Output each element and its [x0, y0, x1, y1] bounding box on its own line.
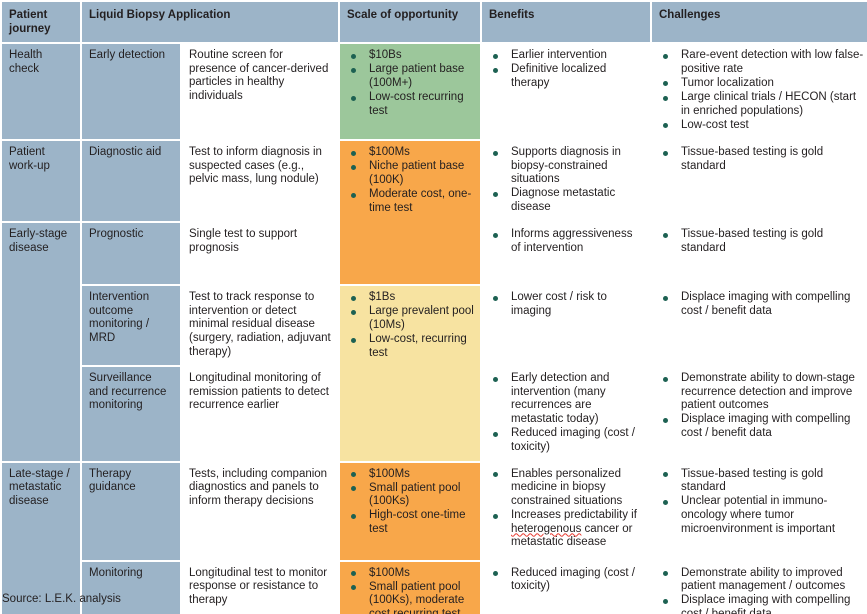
challenges-bullet-list: Demonstrate ability to improved patient … — [659, 567, 865, 614]
challenges-cell: Rare-event detection with low false-posi… — [652, 44, 867, 139]
list-item-misspelled: Increases predictability if heterogenous… — [489, 509, 644, 550]
benefits-bullet-list: Early detection and intervention (many r… — [489, 372, 644, 454]
list-item: Displace imaging with compelling cost / … — [659, 291, 865, 318]
benefits-bullet-list: Earlier intervention Definitive localize… — [489, 49, 644, 90]
challenges-cell: Tissue-based testing is gold standard — [652, 141, 867, 221]
journey-cell-health-check: Health check — [2, 44, 80, 139]
list-item: Earlier intervention — [489, 49, 644, 63]
list-item: $100Ms — [347, 146, 474, 160]
benefits-bullet-list: Informs aggressiveness of intervention — [489, 228, 644, 255]
source-note: Source: L.E.K. analysis — [2, 592, 121, 606]
header-scale-of-opportunity: Scale of opportunity — [340, 2, 480, 42]
scale-cell-mrd-surveillance: $1Bs Large prevalent pool (10Ms) Low-cos… — [340, 286, 480, 461]
list-item: Low-cost test — [659, 119, 865, 133]
list-item: Niche patient base (100K) — [347, 160, 474, 187]
list-item: Demonstrate ability to improved patient … — [659, 567, 865, 594]
challenges-bullet-list: Tissue-based testing is gold standard Un… — [659, 468, 865, 536]
header-challenges: Challenges — [652, 2, 867, 42]
challenges-bullet-list: Rare-event detection with low false-posi… — [659, 49, 865, 132]
list-item: Small patient pool (100Ks) — [347, 482, 474, 509]
application-cell-diagnostic-aid: Diagnostic aid — [82, 141, 180, 221]
table-row: Health check Early detection Routine scr… — [2, 44, 867, 139]
challenges-cell: Tissue-based testing is gold standard Un… — [652, 463, 867, 560]
scale-bullet-list: $1Bs Large prevalent pool (10Ms) Low-cos… — [347, 291, 474, 360]
header-benefits: Benefits — [482, 2, 650, 42]
table-row: Intervention outcome monitoring / MRD Te… — [2, 286, 867, 365]
list-item: Definitive localized therapy — [489, 63, 644, 90]
header-liquid-biopsy-application: Liquid Biopsy Application — [82, 2, 338, 42]
scale-cell-monitoring: $100Ms Small patient pool (100Ks), moder… — [340, 562, 480, 614]
application-cell-intervention-outcome-monitoring: Intervention outcome monitoring / MRD — [82, 286, 180, 365]
scale-bullet-list: $100Ms Niche patient base (100K) Moderat… — [347, 146, 474, 215]
list-item: Diagnose metastatic disease — [489, 187, 644, 214]
description-cell: Single test to support prognosis — [182, 223, 338, 284]
list-item: Informs aggressiveness of intervention — [489, 228, 644, 255]
header-patient-journey: Patient journey — [2, 2, 80, 42]
challenges-bullet-list: Displace imaging with compelling cost / … — [659, 291, 865, 318]
list-item: $100Ms — [347, 567, 474, 581]
scale-bullet-list: $10Bs Large patient base (100M+) Low-cos… — [347, 49, 474, 118]
list-item: High-cost one-time test — [347, 509, 474, 536]
application-cell-therapy-guidance: Therapy guidance — [82, 463, 180, 560]
scale-bullet-list: $100Ms Small patient pool (100Ks), moder… — [347, 567, 474, 614]
list-item: Large patient base (100M+) — [347, 63, 474, 90]
benefits-cell: Informs aggressiveness of intervention — [482, 223, 650, 284]
table-row: Late-stage / metastatic disease Therapy … — [2, 463, 867, 560]
description-cell: Test to track response to intervention o… — [182, 286, 338, 365]
list-item: $100Ms — [347, 468, 474, 482]
application-cell-monitoring: Monitoring — [82, 562, 180, 614]
list-item: Displace imaging with compelling cost / … — [659, 413, 865, 440]
list-item: Tumor localization — [659, 77, 865, 91]
benefit-text-part1: Increases predictability if — [511, 509, 637, 521]
table-row: Monitoring Longitudinal test to monitor … — [2, 562, 867, 614]
list-item: Lower cost / risk to imaging — [489, 291, 644, 318]
list-item: Large prevalent pool (10Ms) — [347, 305, 474, 332]
benefits-bullet-list: Lower cost / risk to imaging — [489, 291, 644, 318]
list-item: Reduced imaging (cost / toxicity) — [489, 427, 644, 454]
list-item: Low-cost recurring test — [347, 91, 474, 118]
list-item: Early detection and intervention (many r… — [489, 372, 644, 426]
application-cell-surveillance-recurrence-monitoring: Surveillance and recurrence monitoring — [82, 367, 180, 461]
description-cell: Routine screen for presence of cancer-de… — [182, 44, 338, 139]
challenges-cell: Demonstrate ability to down-stage recurr… — [652, 367, 867, 461]
list-item: Displace imaging with compelling cost / … — [659, 594, 865, 614]
description-cell: Longitudinal monitoring of remission pat… — [182, 367, 338, 461]
challenges-bullet-list: Demonstrate ability to down-stage recurr… — [659, 372, 865, 440]
challenges-bullet-list: Tissue-based testing is gold standard — [659, 228, 865, 255]
list-item: Reduced imaging (cost / toxicity) — [489, 567, 644, 594]
list-item: Large clinical trials / HECON (start in … — [659, 91, 865, 118]
liquid-biopsy-matrix-table: Patient journey Liquid Biopsy Applicatio… — [0, 0, 867, 614]
list-item: Small patient pool (100Ks), moderate cos… — [347, 581, 474, 614]
scale-cell-health-check: $10Bs Large patient base (100M+) Low-cos… — [340, 44, 480, 139]
benefits-cell: Reduced imaging (cost / toxicity) — [482, 562, 650, 614]
list-item: Enables personalized medicine in biopsy … — [489, 468, 644, 509]
scale-bullet-list: $100Ms Small patient pool (100Ks) High-c… — [347, 468, 474, 537]
scale-cell-work-up-prognostic: $100Ms Niche patient base (100K) Moderat… — [340, 141, 480, 284]
benefits-bullet-list: Supports diagnosis in biopsy-constrained… — [489, 146, 644, 214]
challenges-cell: Tissue-based testing is gold standard — [652, 223, 867, 284]
application-cell-prognostic: Prognostic — [82, 223, 180, 284]
benefits-bullet-list: Reduced imaging (cost / toxicity) — [489, 567, 644, 594]
description-cell: Test to inform diagnosis in suspected ca… — [182, 141, 338, 221]
list-item: Moderate cost, one-time test — [347, 188, 474, 215]
list-item: Unclear potential in immuno-oncology whe… — [659, 495, 865, 536]
challenges-cell: Demonstrate ability to improved patient … — [652, 562, 867, 614]
application-cell-early-detection: Early detection — [82, 44, 180, 139]
list-item: Rare-event detection with low false-posi… — [659, 49, 865, 76]
list-item: Tissue-based testing is gold standard — [659, 228, 865, 255]
journey-cell-early-stage-disease: Early-stage disease — [2, 223, 80, 461]
table-row: Patient work-up Diagnostic aid Test to i… — [2, 141, 867, 221]
list-item: Low-cost, recurring test — [347, 333, 474, 360]
challenges-bullet-list: Tissue-based testing is gold standard — [659, 146, 865, 173]
list-item: Demonstrate ability to down-stage recurr… — [659, 372, 865, 413]
list-item: $1Bs — [347, 291, 474, 305]
benefits-cell: Enables personalized medicine in biopsy … — [482, 463, 650, 560]
benefits-cell: Earlier intervention Definitive localize… — [482, 44, 650, 139]
journey-cell-patient-work-up: Patient work-up — [2, 141, 80, 221]
benefits-cell: Early detection and intervention (many r… — [482, 367, 650, 461]
benefits-cell: Lower cost / risk to imaging — [482, 286, 650, 365]
list-item: Tissue-based testing is gold standard — [659, 468, 865, 495]
challenges-cell: Displace imaging with compelling cost / … — [652, 286, 867, 365]
list-item: Tissue-based testing is gold standard — [659, 146, 865, 173]
table-header-row: Patient journey Liquid Biopsy Applicatio… — [2, 2, 867, 42]
scale-cell-therapy-guidance: $100Ms Small patient pool (100Ks) High-c… — [340, 463, 480, 560]
slide-canvas: Patient journey Liquid Biopsy Applicatio… — [0, 0, 867, 614]
list-item: Supports diagnosis in biopsy-constrained… — [489, 146, 644, 187]
spellcheck-error-heterogenous: heterogenous — [511, 523, 581, 535]
benefits-cell: Supports diagnosis in biopsy-constrained… — [482, 141, 650, 221]
description-cell: Longitudinal test to monitor response or… — [182, 562, 338, 614]
benefits-bullet-list: Enables personalized medicine in biopsy … — [489, 468, 644, 550]
list-item: $10Bs — [347, 49, 474, 63]
description-cell: Tests, including companion diagnostics a… — [182, 463, 338, 560]
